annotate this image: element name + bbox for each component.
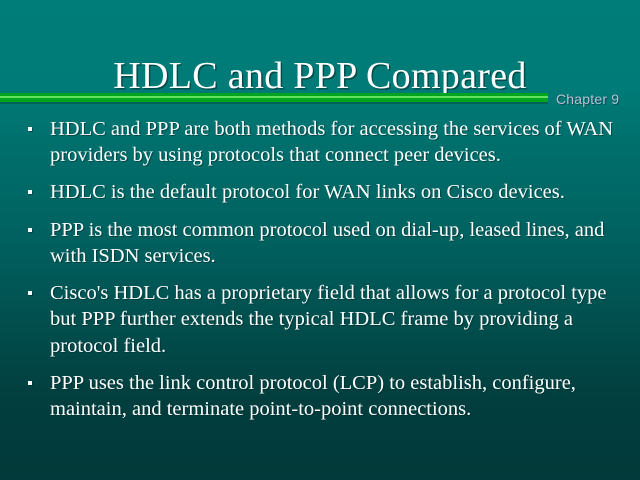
bullet-point-icon: [28, 127, 32, 131]
list-item-text: HDLC and PPP are both methods for access…: [50, 116, 626, 168]
divider-band-shadow: [0, 102, 548, 104]
list-item: PPP is the most common protocol used on …: [14, 217, 626, 269]
chapter-label: Chapter 9: [556, 91, 619, 107]
slide-title: HDLC and PPP Compared: [0, 57, 640, 97]
list-item-text: HDLC is the default protocol for WAN lin…: [50, 179, 626, 205]
bullet-point-icon: [28, 190, 32, 194]
list-item: HDLC and PPP are both methods for access…: [14, 116, 626, 168]
bullet-point-icon: [28, 291, 32, 295]
bullet-point-icon: [28, 381, 32, 385]
bullet-point-icon: [28, 228, 32, 232]
list-item: PPP uses the link control protocol (LCP)…: [14, 370, 626, 422]
bullet-list: HDLC and PPP are both methods for access…: [14, 116, 626, 433]
list-item: HDLC is the default protocol for WAN lin…: [14, 179, 626, 205]
list-item-text: Cisco's HDLC has a proprietary field tha…: [50, 280, 626, 359]
list-item-text: PPP uses the link control protocol (LCP)…: [50, 370, 626, 422]
list-item-text: PPP is the most common protocol used on …: [50, 217, 626, 269]
list-item: Cisco's HDLC has a proprietary field tha…: [14, 280, 626, 359]
presentation-slide: HDLC and PPP Compared Chapter 9 HDLC and…: [0, 0, 640, 480]
title-divider-bar: [0, 93, 548, 104]
